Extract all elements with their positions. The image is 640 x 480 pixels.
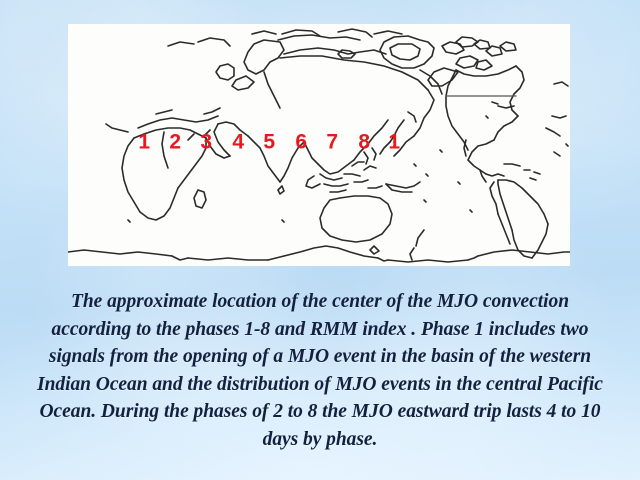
caption-line-5: Ocean. During the phases of 2 to 8 the M…	[0, 398, 640, 426]
caption-line-3: signals from the opening of a MJO event …	[0, 343, 640, 371]
world-map-panel: 123456781	[68, 24, 570, 266]
caption-line-1: The approximate location of the center o…	[0, 288, 640, 316]
caption-line-4: Indian Ocean and the distribution of MJO…	[0, 371, 640, 399]
presentation-slide: 123456781 The approximate location of th…	[0, 0, 640, 480]
world-map-coastlines	[68, 24, 570, 266]
slide-caption: The approximate location of the center o…	[0, 288, 640, 453]
caption-line-2: according to the phases 1-8 and RMM inde…	[0, 316, 640, 344]
caption-line-6: days by phase.	[0, 426, 640, 454]
